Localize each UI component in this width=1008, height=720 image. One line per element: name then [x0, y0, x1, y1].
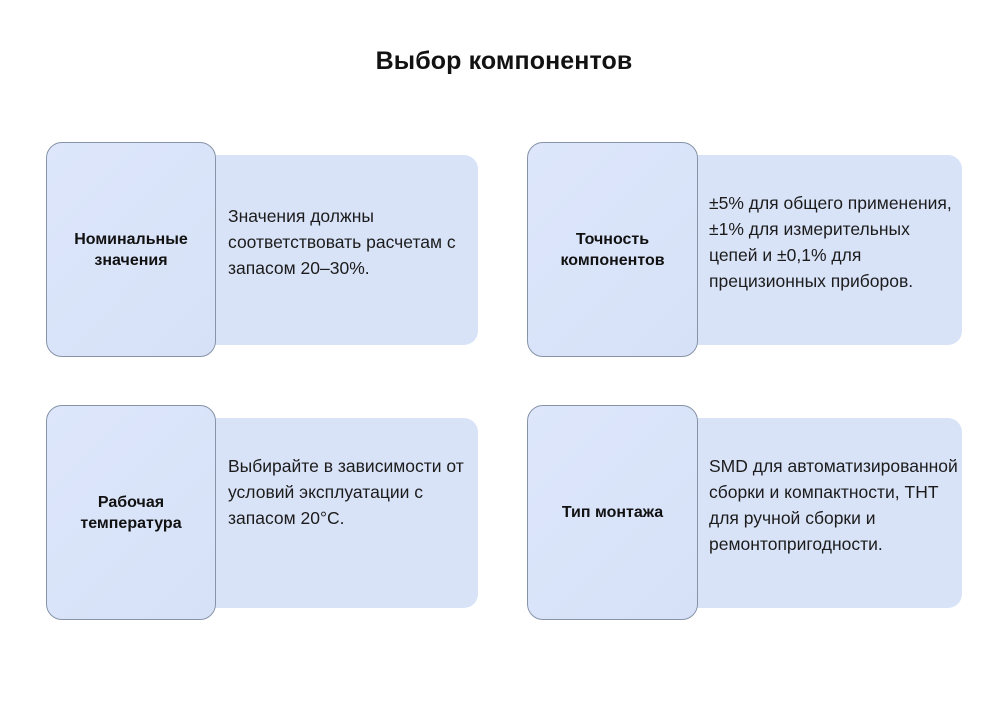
- card-label-box: Рабочая температура: [46, 405, 216, 620]
- card-description: SMD для автоматизированной сборки и комп…: [709, 453, 964, 557]
- card-label: Рабочая температура: [47, 492, 215, 534]
- card-description: ±5% для общего применения, ±1% для измер…: [709, 190, 959, 294]
- card-label-box: Точность компонентов: [527, 142, 698, 357]
- card-label: Номинальные значения: [47, 229, 215, 271]
- card-label: Точность компонентов: [528, 229, 697, 271]
- card-label-box: Номинальные значения: [46, 142, 216, 357]
- card-description: Значения должны соответствовать расчетам…: [228, 203, 468, 281]
- card-label-box: Тип монтажа: [527, 405, 698, 620]
- card-label: Тип монтажа: [554, 502, 671, 523]
- cards-grid: Номинальные значения Значения должны соо…: [0, 0, 1008, 720]
- card-description: Выбирайте в зависимости от условий экспл…: [228, 453, 468, 531]
